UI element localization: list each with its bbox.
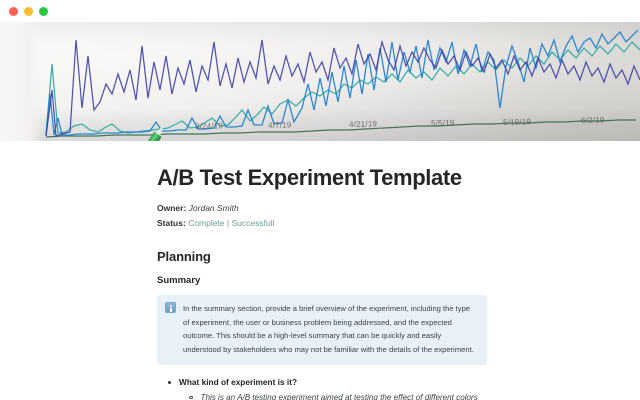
window-titlebar [0, 0, 640, 22]
info-callout[interactable]: In the summary section, provide a brief … [157, 295, 487, 365]
close-window-button[interactable] [9, 7, 18, 16]
cover-chart-x-tick: 6/2/19 [581, 115, 605, 125]
question-row[interactable]: What kind of experiment is it? [157, 376, 487, 390]
owner-value[interactable]: Jordan Smith [189, 203, 239, 213]
document-cover-image[interactable]: 3/24/19 4/7/19 4/21/19 5/5/19 5/19/19 6/… [0, 22, 640, 141]
cover-chart-x-tick: 5/19/19 [503, 117, 531, 127]
page-title[interactable]: A/B Test Experiment Template [157, 165, 487, 191]
answers-list: This is an A/B testing experiment aimed … [157, 391, 487, 400]
minimize-window-button[interactable] [24, 7, 33, 16]
answer-row[interactable]: This is an A/B testing experiment aimed … [157, 391, 487, 400]
maximize-window-button[interactable] [39, 7, 48, 16]
info-callout-text: In the summary section, provide a brief … [183, 302, 478, 357]
owner-label: Owner: [157, 203, 186, 213]
summary-heading: Summary [157, 275, 487, 286]
owner-row: Owner: Jordan Smith [157, 201, 487, 216]
planning-heading: Planning [157, 249, 487, 264]
cover-chart-x-axis: 3/24/19 4/7/19 4/21/19 5/5/19 5/19/19 6/… [0, 118, 640, 134]
cover-chart-x-tick: 5/5/19 [431, 118, 455, 128]
bullet-disc-icon [168, 381, 171, 384]
status-badge[interactable]: Complete | Successfull [188, 218, 274, 228]
list-item: What kind of experiment is it? This is a… [157, 376, 487, 400]
cover-chart-x-tick: 4/21/19 [349, 119, 377, 129]
list-item: This is an A/B testing experiment aimed … [157, 391, 487, 400]
document-body: A/B Test Experiment Template Owner: Jord… [0, 141, 640, 400]
question-text: What kind of experiment is it? [179, 376, 297, 390]
questions-list: What kind of experiment is it? This is a… [157, 376, 487, 400]
status-row: Status: Complete | Successfull [157, 216, 487, 231]
cover-chart-x-tick: 4/7/19 [268, 120, 292, 130]
cover-chart-x-tick: 3/24/19 [195, 121, 223, 131]
status-label: Status: [157, 218, 186, 228]
info-icon [165, 302, 176, 313]
bullet-ring-icon [189, 396, 193, 400]
answer-text: This is an A/B testing experiment aimed … [201, 391, 488, 400]
